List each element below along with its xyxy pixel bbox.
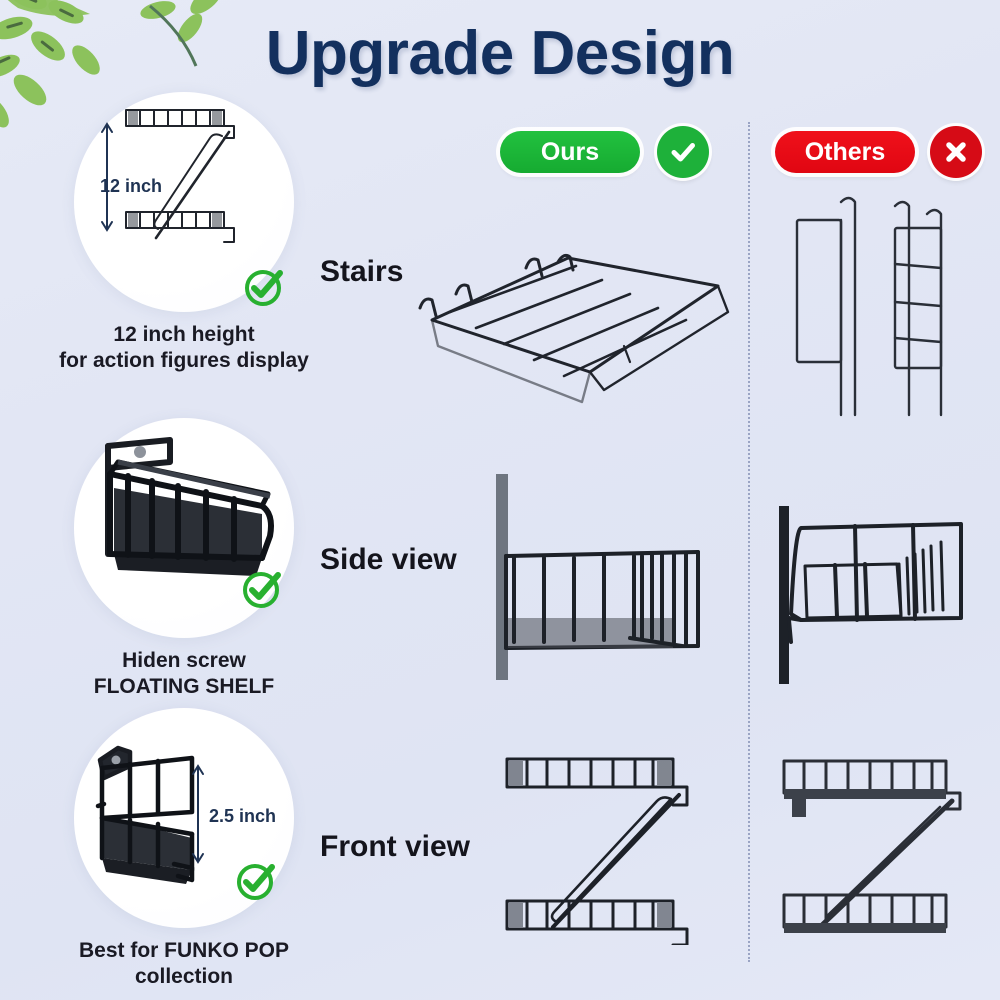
product-image-side-view-ours: [482, 470, 732, 685]
ours-badge-label: Ours: [541, 138, 599, 167]
others-badge: Others: [775, 131, 915, 173]
callout-circle: 2.5 inch: [74, 708, 294, 928]
callout-art-floating-shelf: [74, 418, 294, 638]
check-icon: [242, 264, 288, 310]
callout-caption: Hiden screw FLOATING SHELF: [34, 648, 334, 699]
callout-circle: [74, 418, 294, 638]
x-icon: [930, 126, 982, 178]
dimension-label-12-inch: 12 inch: [100, 176, 162, 197]
caption-line-1: 12 inch height: [113, 323, 254, 346]
others-badge-label: Others: [805, 138, 886, 167]
product-image-front-view-ours: [495, 745, 740, 945]
check-icon: [657, 126, 709, 178]
caption-line-1: Hiden screw: [122, 649, 246, 672]
caption-line-1: Best for FUNKO POP: [79, 939, 289, 962]
infographic-page: Upgrade Design Ours Others Stairs Side v…: [0, 0, 1000, 1000]
ours-badge: Ours: [500, 131, 640, 173]
product-image-side-view-others: [765, 478, 990, 688]
row-label-side-view: Side view: [320, 543, 457, 577]
page-title: Upgrade Design: [0, 18, 1000, 89]
product-image-stairs-others: [775, 190, 990, 425]
caption-line-2: collection: [34, 964, 334, 990]
check-icon: [245, 574, 278, 606]
callout-caption: 12 inch height for action figures displa…: [34, 322, 334, 373]
column-divider: [748, 122, 750, 962]
product-image-stairs-ours: [418, 250, 738, 415]
caption-line-2: for action figures display: [34, 348, 334, 374]
dimension-label-2-5-inch: 2.5 inch: [209, 806, 276, 827]
row-label-front-view: Front view: [320, 830, 470, 864]
callout-circle: 12 inch: [74, 92, 294, 312]
product-image-front-view-others: [770, 745, 992, 945]
check-icon: [239, 866, 272, 898]
callout-caption: Best for FUNKO POP collection: [34, 938, 334, 989]
callout-floating-shelf: Hiden screw FLOATING SHELF: [34, 418, 334, 699]
caption-line-2: FLOATING SHELF: [34, 674, 334, 700]
callout-12-inch-height: 12 inch 12 inch height for action figure…: [34, 92, 334, 373]
callout-funko-pop: 2.5 inch Best for FUNKO POP collection: [34, 708, 334, 989]
